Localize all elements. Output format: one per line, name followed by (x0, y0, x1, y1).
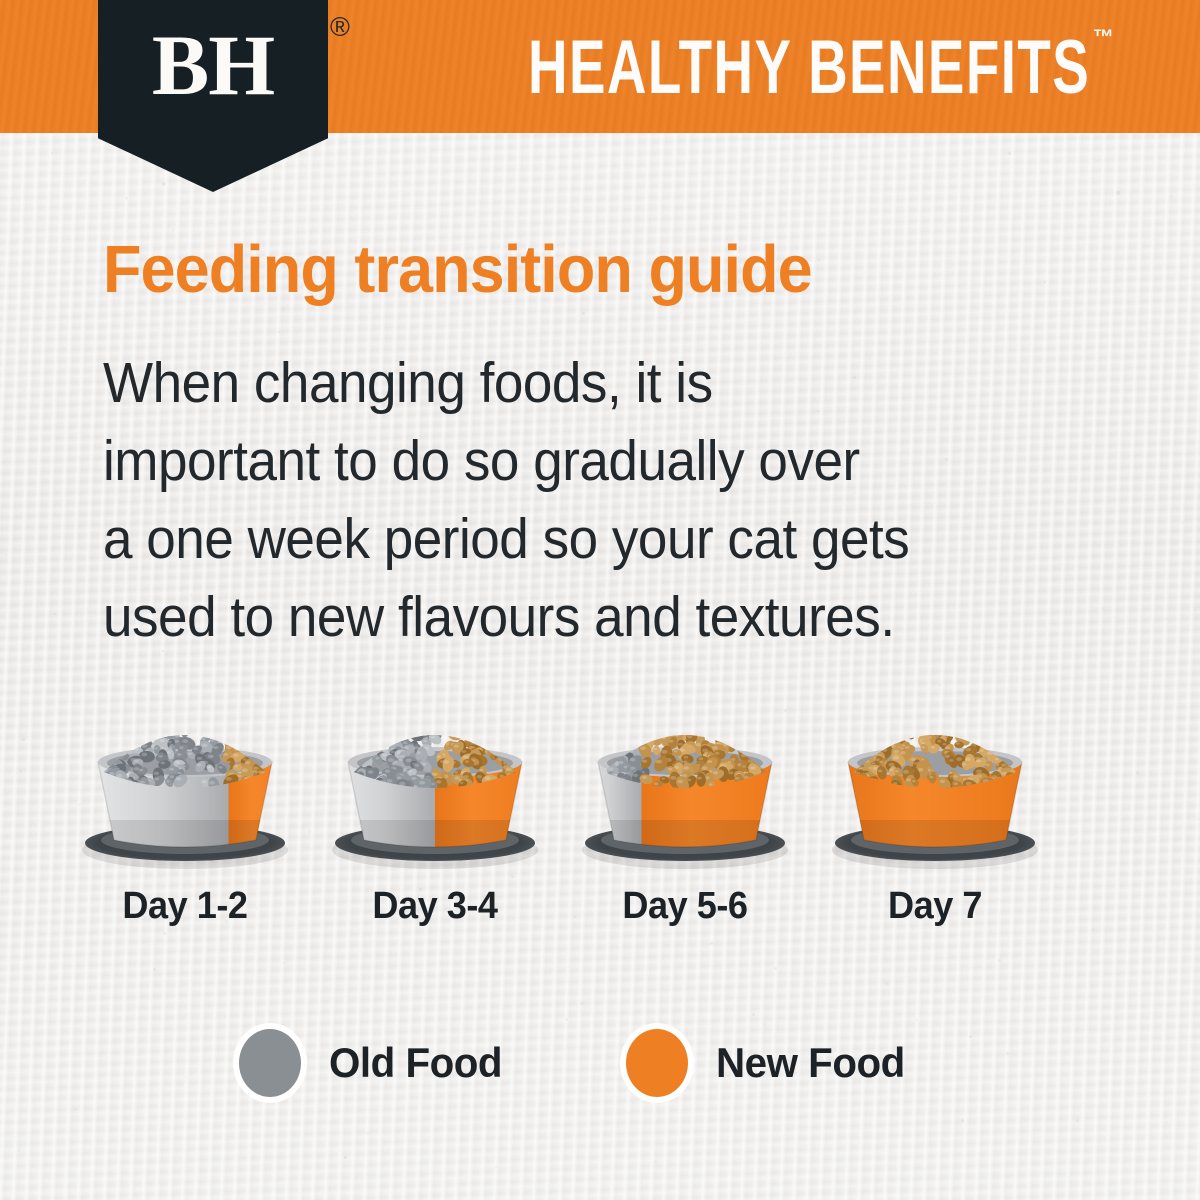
kibble-new (502, 742, 511, 755)
kibble-new (244, 730, 252, 740)
kibble-new (429, 700, 445, 712)
bowl-step-1 (60, 700, 310, 880)
kibble-new (878, 721, 893, 735)
background-speck (5, 370, 6, 371)
background-speck (1101, 607, 1104, 610)
kibble-new (713, 716, 733, 734)
legend: Old Food New Food (0, 1018, 1200, 1108)
kibble-old (358, 738, 371, 751)
kibble-new (987, 732, 1004, 748)
background-speck (777, 989, 779, 991)
background-speck (366, 1132, 369, 1135)
kibble-old (146, 712, 162, 729)
kibble-new (729, 714, 746, 728)
kibble-new (643, 708, 658, 724)
background-speck (654, 1160, 657, 1163)
kibble-new (694, 721, 708, 738)
kibble-old (369, 720, 388, 740)
background-speck (18, 1149, 20, 1151)
body-line: important to do so gradually over (103, 422, 1089, 500)
kibble-new (951, 724, 964, 735)
kibble-old (627, 716, 640, 726)
kibble-old (390, 732, 401, 741)
background-speck (23, 389, 25, 391)
background-speck (774, 967, 777, 970)
kibble-new (642, 723, 654, 732)
background-speck (939, 684, 941, 686)
kibble-new (684, 712, 701, 730)
kibble-old (141, 720, 158, 734)
kibble-new (710, 719, 727, 734)
kibble-old (409, 714, 426, 729)
background-speck (669, 218, 671, 220)
background-speck (208, 1006, 209, 1007)
kibble-new (470, 714, 490, 730)
kibble-new (906, 717, 923, 730)
background-speck (51, 152, 53, 154)
kibble-new (861, 736, 873, 749)
kibble-new (975, 728, 988, 743)
kibble-new (880, 728, 898, 742)
background-speck (1092, 439, 1094, 441)
background-speck (410, 217, 411, 218)
bowl-illustration (560, 700, 810, 880)
background-speck (1170, 195, 1173, 198)
kibble-new (473, 713, 484, 728)
kibble-old (426, 724, 434, 735)
bowl-step-2 (310, 700, 560, 880)
background-speck (583, 146, 585, 148)
kibble-new (657, 708, 673, 721)
kibble-old (385, 719, 398, 734)
kibble-new (702, 719, 720, 736)
kibble-new (691, 709, 708, 728)
kibble-new (991, 726, 1006, 737)
kibble-new (668, 701, 689, 720)
kibble-old (383, 729, 397, 745)
kibble-old (619, 734, 629, 747)
kibble-old (362, 728, 377, 745)
kibble-old (632, 716, 644, 729)
kibble-new (968, 717, 981, 730)
kibble-new (746, 733, 760, 744)
background-speck (961, 1119, 964, 1122)
background-speck (1093, 220, 1095, 222)
kibble-old (134, 730, 147, 743)
kibble-new (245, 730, 261, 742)
background-speck (74, 1108, 77, 1111)
background-speck (172, 229, 174, 231)
kibble-new (231, 731, 240, 742)
kibble-old (128, 719, 138, 732)
kibble-old (383, 734, 393, 747)
kibble-new (675, 706, 690, 720)
kibble-old (365, 731, 375, 743)
kibble-new (482, 734, 495, 746)
kibble-new (231, 713, 241, 727)
body-paragraph: When changing foods, it is important to … (103, 344, 1089, 656)
kibble-new (428, 700, 445, 714)
kibble-new (943, 700, 954, 711)
legend-label-old-food: Old Food (329, 1039, 502, 1087)
kibble-new (703, 725, 716, 739)
kibble-new (936, 722, 952, 734)
kibble-new (916, 718, 935, 736)
background-speck (246, 965, 247, 966)
kibble-new (459, 708, 475, 722)
background-speck (580, 1002, 583, 1005)
circle-swatch-orange-icon (620, 1023, 694, 1103)
kibble-old (115, 740, 128, 750)
kibble-old (181, 707, 191, 720)
kibble-old (619, 724, 630, 735)
page-title: Feeding transition guide (103, 234, 1081, 306)
kibble-new (462, 711, 479, 726)
kibble-new (912, 710, 930, 729)
kibble-new (997, 734, 1009, 747)
kibble-new (875, 730, 891, 741)
kibble-new (731, 721, 743, 734)
day-label-1: Day 1-2 (66, 884, 304, 928)
kibble-old (216, 725, 232, 739)
background-speck (54, 613, 56, 615)
kibble-new (676, 717, 692, 730)
kibble-old (136, 707, 151, 724)
background-speck (1116, 191, 1120, 195)
kibble-new (665, 727, 676, 736)
kibble-old (189, 716, 206, 731)
kibble-old (626, 729, 645, 745)
kibble-new (882, 726, 894, 740)
kibble-old (128, 733, 140, 745)
day-labels-row: Day 1-2 Day 3-4 Day 5-6 Day 7 (0, 884, 1200, 932)
kibble-old (623, 719, 641, 733)
kibble-old (632, 722, 645, 731)
kibble-old (203, 728, 216, 738)
kibble-new (718, 716, 733, 733)
kibble-new (695, 711, 708, 727)
kibble-new (975, 716, 990, 732)
kibble-old (373, 734, 386, 746)
kibble-new (952, 703, 962, 715)
day-label-2: Day 3-4 (316, 884, 554, 928)
kibble-old (602, 741, 620, 754)
kibble-new (935, 720, 947, 732)
kibble-new (983, 718, 994, 729)
kibble-new (731, 719, 747, 738)
kibble-new (436, 713, 446, 726)
kibble-new (983, 720, 996, 730)
background-speck (278, 331, 280, 333)
background-speck (701, 1003, 702, 1004)
kibble-old (146, 703, 164, 717)
registered-trademark-icon: ® (330, 14, 350, 41)
kibble-new (698, 705, 707, 717)
kibble-new (705, 708, 722, 721)
kibble-new (740, 725, 752, 737)
kibble-new (736, 728, 754, 742)
day-label-3: Day 5-6 (566, 884, 804, 928)
kibble-new (954, 742, 964, 749)
body-line: a one week period so your cat gets (103, 500, 1089, 578)
kibble-new (905, 727, 914, 739)
kibble-old (116, 740, 126, 747)
kibble-new (690, 722, 705, 736)
background-speck (495, 1166, 497, 1168)
circle-swatch-grey-icon (233, 1023, 307, 1103)
kibble-old (121, 718, 135, 733)
kibble-old (615, 724, 630, 740)
kibble-old (399, 717, 414, 729)
kibble-old (394, 723, 410, 740)
kibble-old (402, 715, 415, 727)
kibble-new (993, 724, 1005, 740)
kibble-new (985, 728, 998, 739)
kibble-old (197, 716, 206, 728)
kibble-old (155, 702, 169, 714)
background-speck (90, 550, 91, 551)
kibble-old (612, 730, 623, 742)
kibble-old (124, 736, 138, 748)
kibble-new (485, 733, 503, 751)
brand-title: HEALTHY BENEFITS (528, 18, 1032, 118)
kibble-new (729, 720, 746, 737)
kibble-new (736, 739, 749, 752)
kibble-new (940, 708, 954, 719)
background-speck (34, 326, 35, 327)
kibble-old (175, 710, 184, 721)
background-speck (885, 982, 889, 986)
kibble-new (889, 715, 906, 727)
background-speck (905, 975, 907, 977)
background-speck (246, 1006, 247, 1007)
background-speck (153, 968, 156, 971)
background-speck (522, 987, 523, 988)
background-speck (1008, 152, 1011, 155)
kibble-old (394, 709, 408, 725)
kibble-new (964, 712, 973, 724)
kibble-new (880, 732, 896, 745)
background-speck (281, 307, 285, 311)
kibble-old (112, 737, 125, 751)
kibble-old (170, 700, 184, 713)
kibble-new (919, 707, 937, 720)
kibble-new (920, 706, 933, 715)
kibble-new (919, 708, 931, 718)
kibble-new (973, 714, 984, 722)
kibble-old (428, 713, 442, 726)
kibble-old (419, 700, 434, 714)
background-speck (813, 163, 814, 164)
background-speck (228, 1143, 229, 1144)
kibble-new (447, 728, 464, 742)
kibble-old (145, 731, 154, 744)
kibble-new (985, 723, 1003, 743)
kibble-new (675, 700, 694, 716)
kibble-old (357, 736, 372, 748)
kibble-old (615, 729, 626, 742)
kibble-old (425, 707, 441, 722)
kibble-old (142, 712, 154, 724)
kibble-new (220, 722, 236, 735)
kibble-old (430, 712, 439, 723)
kibble-new (492, 727, 505, 743)
kibble-old (150, 720, 163, 736)
background-speck (927, 180, 930, 183)
background-speck (418, 669, 419, 670)
kibble-new (906, 724, 913, 734)
kibble-old (163, 723, 178, 735)
background-speck (5, 554, 7, 556)
background-speck (582, 312, 585, 315)
bowl-illustration (60, 700, 310, 880)
background-speck (759, 193, 761, 195)
trademark-icon: ™ (1093, 26, 1114, 50)
kibble-new (986, 734, 997, 745)
kibble-new (879, 721, 898, 741)
kibble-old (139, 722, 155, 733)
kibble-new (966, 732, 978, 742)
kibble-old (378, 716, 394, 733)
kibble-old (630, 728, 642, 743)
kibble-new (681, 700, 696, 718)
background-speck (72, 378, 73, 379)
kibble-new (696, 700, 712, 718)
kibble-new (951, 710, 969, 724)
kibble-new (481, 727, 491, 738)
background-speck (258, 932, 259, 933)
kibble-new (731, 714, 744, 730)
kibble-old (405, 723, 417, 733)
kibble-new (883, 722, 897, 734)
transition-bowls-row (0, 700, 1200, 880)
kibble-new (864, 720, 881, 739)
kibble-new (735, 735, 748, 747)
kibble-old (146, 722, 163, 735)
kibble-new (945, 704, 957, 718)
kibble-old (404, 722, 417, 735)
kibble-old (111, 727, 127, 744)
background-speck (574, 692, 576, 694)
background-speck (63, 347, 65, 349)
kibble-old (364, 724, 381, 736)
kibble-old (146, 718, 156, 730)
kibble-old (359, 730, 375, 749)
background-speck (344, 1156, 347, 1159)
kibble-old (192, 700, 204, 713)
kibble-old (629, 712, 643, 727)
kibble-old (383, 714, 398, 731)
kibble-old (130, 727, 145, 745)
kibble-new (705, 710, 714, 723)
background-speck (125, 197, 128, 200)
background-speck (1181, 521, 1184, 524)
kibble-new (467, 709, 477, 722)
kibble-new (955, 722, 964, 733)
kibble-new (679, 717, 695, 729)
kibble-new (437, 700, 454, 715)
kibble-new (497, 732, 513, 749)
kibble-new (461, 705, 478, 721)
kibble-old (168, 706, 179, 719)
kibble-new (976, 726, 988, 737)
kibble-old (132, 720, 142, 734)
kibble-old (157, 711, 174, 729)
kibble-new (708, 708, 723, 722)
kibble-new (225, 725, 236, 739)
kibble-new (657, 722, 669, 737)
kibble-old (392, 718, 402, 725)
kibble-new (694, 706, 709, 718)
kibble-new (431, 705, 449, 724)
kibble-new (991, 731, 1010, 750)
legend-item-new-food: New Food (620, 1018, 913, 1108)
kibble-old (195, 711, 210, 724)
background-speck (716, 664, 718, 666)
kibble-old (138, 715, 148, 727)
kibble-new (956, 713, 969, 729)
day-label-4: Day 7 (816, 884, 1054, 928)
kibble-old (121, 729, 139, 749)
kibble-new (436, 701, 456, 721)
kibble-new (677, 720, 688, 731)
kibble-old (394, 727, 407, 737)
kibble-new (723, 713, 734, 724)
kibble-old (414, 717, 435, 736)
kibble-new (963, 714, 981, 734)
kibble-new (943, 716, 955, 728)
kibble-old (164, 703, 179, 718)
kibble-new (880, 727, 896, 746)
kibble-old (175, 718, 187, 727)
kibble-new (943, 712, 957, 724)
kibble-old (161, 713, 178, 731)
kibble-old (622, 735, 635, 749)
kibble-new (998, 732, 1014, 749)
kibble-old (396, 718, 413, 732)
bowl-step-4 (810, 700, 1060, 880)
background-speck (940, 207, 941, 208)
kibble-new (994, 728, 1012, 745)
kibble-old (208, 709, 219, 718)
background-speck (969, 963, 971, 965)
kibble-new (885, 724, 898, 736)
kibble-old (621, 725, 640, 743)
kibble-new (871, 724, 887, 737)
kibble-new (644, 705, 657, 718)
kibble-old (169, 718, 180, 727)
background-speck (1165, 618, 1167, 620)
kibble-new (449, 710, 468, 729)
bowl-illustration (310, 700, 560, 880)
bowl-illustration (810, 700, 1060, 880)
kibble-old (124, 737, 136, 749)
brand-monogram: BH (98, 22, 328, 108)
kibble-old (158, 705, 173, 721)
kibble-new (641, 704, 657, 720)
kibble-new (704, 718, 714, 725)
kibble-old (145, 703, 157, 718)
kibble-new (903, 719, 920, 737)
kibble-new (232, 724, 246, 741)
kibble-old (160, 715, 173, 727)
background-speck (1076, 1119, 1079, 1122)
background-speck (710, 942, 713, 945)
kibble-old (390, 725, 402, 739)
kibble-old (132, 725, 149, 743)
kibble-new (473, 710, 481, 722)
kibble-new (903, 728, 916, 741)
